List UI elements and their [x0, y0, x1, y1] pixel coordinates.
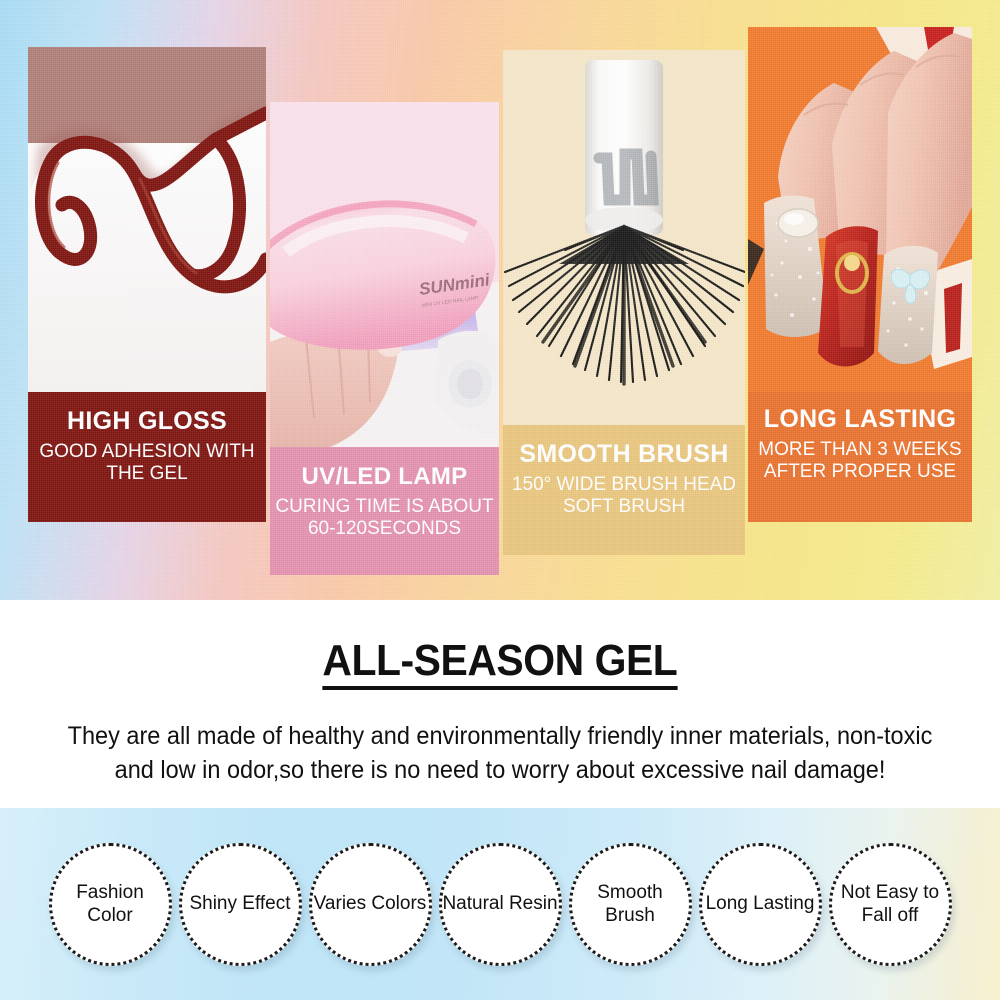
feature-badges-section: Fashion Color Shiny Effect Varies Colors…	[0, 808, 1000, 1000]
fan-brush-illustration	[503, 50, 745, 425]
panel-label-band: SMOOTH BRUSH 150° WIDE BRUSH HEAD SOFT B…	[503, 425, 745, 555]
feature-panel-long-lasting: LONG LASTING MORE THAN 3 WEEKS AFTER PRO…	[748, 27, 972, 522]
product-infographic: HIGH GLOSS GOOD ADHESION WITH THE GEL	[0, 0, 1000, 1000]
feature-panel-uv-led-lamp: SUNmini MINI UV LED NAIL LAMP UV/LED LAM…	[270, 102, 499, 575]
uv-led-lamp-photo: SUNmini MINI UV LED NAIL LAMP	[270, 102, 499, 447]
panel-title: UV/LED LAMP	[270, 464, 499, 490]
page-title: ALL-SEASON GEL	[323, 600, 678, 690]
panel-subtitle: GOOD ADHESION WITH THE GEL	[28, 441, 266, 485]
feature-badge-label: Varies Colors	[314, 892, 427, 915]
feature-badge: Varies Colors	[309, 843, 432, 966]
red-gel-swirl-photo	[28, 47, 266, 392]
feature-badge: Shiny Effect	[179, 843, 302, 966]
feature-badge: Natural Resin	[439, 843, 562, 966]
gel-swirl-icon	[28, 47, 266, 392]
nails-illustration	[748, 27, 972, 392]
headline-section: ALL-SEASON GEL They are all made of heal…	[0, 600, 1000, 808]
feature-panel-high-gloss: HIGH GLOSS GOOD ADHESION WITH THE GEL	[28, 47, 266, 522]
feature-badge: Not Easy to Fall off	[829, 843, 952, 966]
feature-badge-label: Smooth Brush	[572, 881, 689, 927]
feature-badge-label: Fashion Color	[52, 881, 169, 927]
feature-badge-label: Long Lasting	[706, 892, 815, 915]
feature-badge: Smooth Brush	[569, 843, 692, 966]
manicured-nails-photo	[748, 27, 972, 392]
panel-subtitle: CURING TIME IS ABOUT 60-120SECONDS	[270, 496, 499, 540]
panel-label-band: HIGH GLOSS GOOD ADHESION WITH THE GEL	[28, 392, 266, 522]
fan-brush-photo	[503, 50, 745, 425]
feature-badge: Long Lasting	[699, 843, 822, 966]
feature-badge-label: Shiny Effect	[189, 892, 290, 915]
feature-badge: Fashion Color	[49, 843, 172, 966]
feature-badge-label: Not Easy to Fall off	[832, 881, 949, 927]
panel-label-band: LONG LASTING MORE THAN 3 WEEKS AFTER PRO…	[748, 392, 972, 522]
panel-subtitle: 150° WIDE BRUSH HEAD SOFT BRUSH	[503, 474, 745, 518]
description-text: They are all made of healthy and environ…	[30, 690, 970, 788]
panel-title: HIGH GLOSS	[28, 408, 266, 436]
hero-section: HIGH GLOSS GOOD ADHESION WITH THE GEL	[0, 0, 1000, 600]
panel-title: LONG LASTING	[748, 406, 972, 434]
feature-badge-label: Natural Resin	[442, 892, 557, 915]
feature-panel-smooth-brush: SMOOTH BRUSH 150° WIDE BRUSH HEAD SOFT B…	[503, 50, 745, 555]
panel-subtitle: MORE THAN 3 WEEKS AFTER PROPER USE	[748, 439, 972, 483]
feature-badge-list: Fashion Color Shiny Effect Varies Colors…	[0, 808, 1000, 1000]
panel-label-band: UV/LED LAMP CURING TIME IS ABOUT 60-120S…	[270, 447, 499, 575]
uv-lamp-illustration: SUNmini MINI UV LED NAIL LAMP	[270, 102, 499, 447]
panel-title: SMOOTH BRUSH	[503, 441, 745, 469]
